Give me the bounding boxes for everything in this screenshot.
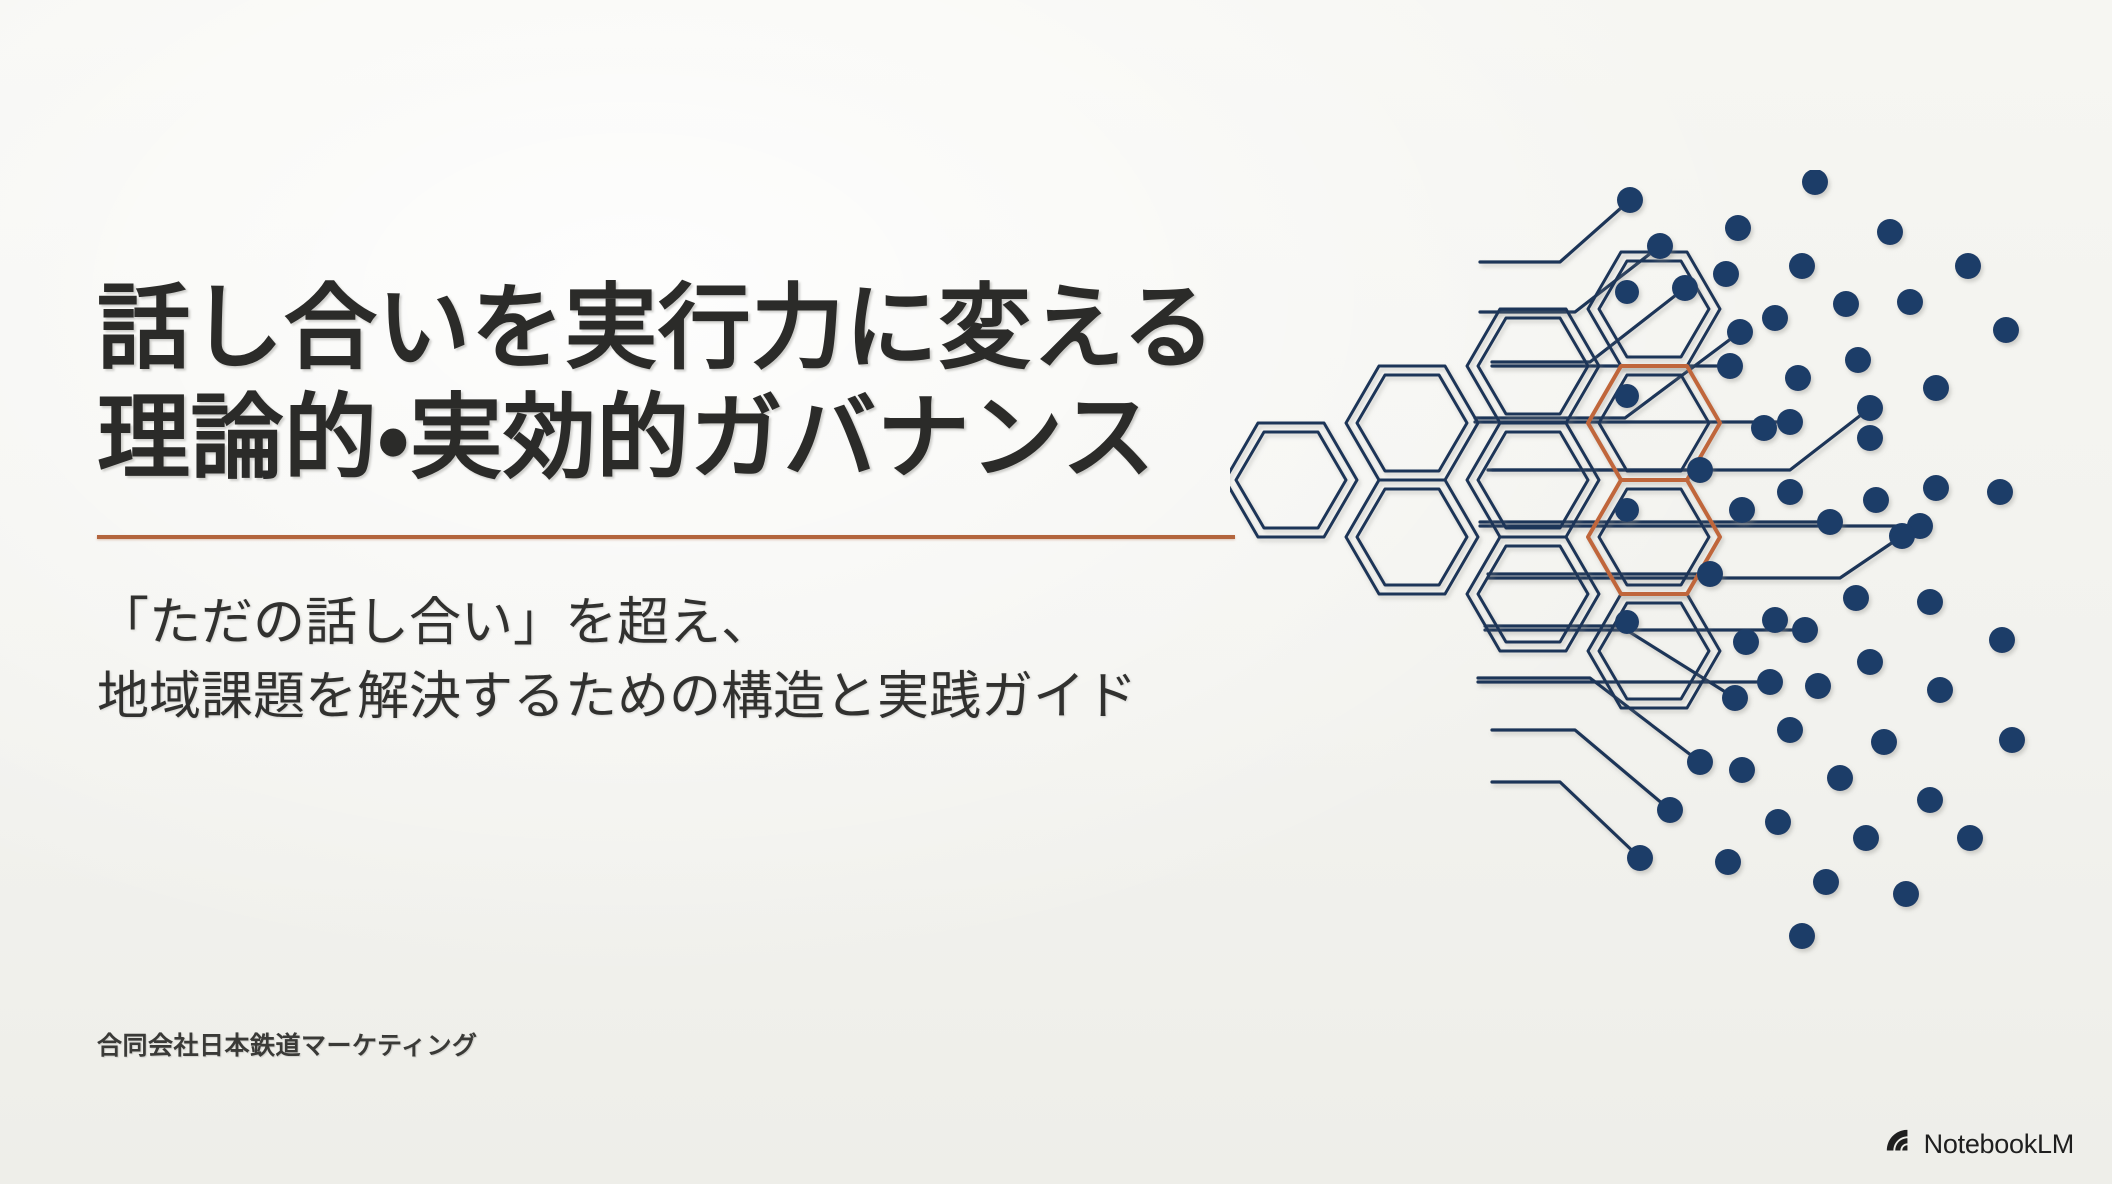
subtitle-line-1: 「ただの話し合い」を超え、 (97, 587, 1287, 661)
hexagon-network-illustration (1230, 170, 2112, 960)
organization-name: 合同会社日本鉄道マーケティング (97, 1026, 478, 1062)
notebooklm-brand: NotebookLM (1884, 1127, 2074, 1162)
title-divider (97, 535, 1235, 539)
slide-canvas: 話し合いを実行力に変える 理論的・実効的ガバナンス 「ただの話し合い」を超え、 … (0, 0, 2112, 1184)
subtitle-block: 「ただの話し合い」を超え、 地域課題を解決するための構造と実践ガイド (97, 587, 1287, 735)
node-cloud (1617, 170, 2025, 949)
title-block: 話し合いを実行力に変える 理論的・実効的ガバナンス 「ただの話し合い」を超え、 … (97, 274, 1287, 735)
page-title-line-1: 話し合いを実行力に変える (97, 274, 1287, 384)
subtitle-line-2: 地域課題を解決するための構造と実践ガイド (97, 661, 1287, 735)
page-title-line-2: 理論的・実効的ガバナンス (97, 384, 1287, 494)
notebooklm-spiral-icon (1884, 1127, 1914, 1162)
notebooklm-label: NotebookLM (1924, 1129, 2074, 1160)
